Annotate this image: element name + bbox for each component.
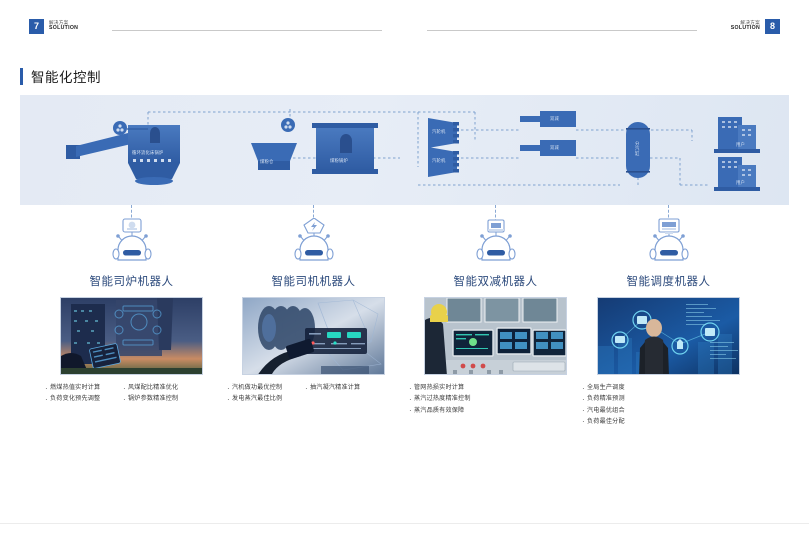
photo-dispatch-dashboard-art [598,298,740,375]
bullet-col-3a: 管网热损实时计算 蒸汽过热度精准控制 蒸汽品质有效保障 [408,384,528,414]
photo-boiler-plant [60,297,203,375]
bullet-list-1: 燃煤热值实时计算 负荷变化预先调整 风煤配比精准优化 锅炉参数精准控制 [44,384,219,403]
header-left-marker: 7 解决方案 SOLUTION [29,19,78,34]
robot-name-4: 智能调度机器人 [581,273,756,289]
equipment-user-building-1 [714,117,760,153]
slide-page: 7 解决方案 SOLUTION 解决方案 SOLUTION 8 智能化控制 [0,0,809,550]
equipment-label-turbine-1: 汽轮机 [432,130,446,134]
equipment-label-pc-boiler: 煤粉锅炉 [330,159,348,163]
title-label: 智能化控制 [31,66,101,86]
equipment-label-user-1: 用户 [736,143,745,147]
header-left-text: 解决方案 SOLUTION [49,21,78,31]
robot-icon-wrap-1 [44,218,219,268]
robot-icon-wrap-3 [408,218,583,268]
list-item: 负荷精准预测 [581,395,701,402]
robot-reducer-icon [472,218,520,264]
bullet-col-2a: 汽机做功最优控制 发电蒸汽最佳比例 [226,384,304,403]
photo-turbine [242,297,385,375]
equipment-label-user-2: 用户 [736,181,745,185]
bullet-list-4: 全局生产调度 负荷精准预测 汽电最优组合 负荷最佳分配 [581,384,756,425]
equipment-reducer-1 [520,111,576,127]
bullet-col-1a: 燃煤热值实时计算 负荷变化预先调整 [44,384,122,403]
header-left-en: SOLUTION [49,26,78,31]
photo-turbine-art [243,298,385,375]
robot-dispatch-icon [645,218,693,264]
photo-dispatch-dashboard [597,297,740,375]
photo-boiler-plant-art [61,298,203,375]
equipment-user-building-2 [714,157,760,191]
equipment-coal-bunker [251,118,297,170]
robot-name-1: 智能司炉机器人 [44,273,219,289]
photo-control-room-art [425,298,567,375]
equipment-label-coal-bunker: 煤粉仓 [260,160,274,164]
list-item: 锅炉参数精准控制 [122,395,200,402]
solution-column-turbine-operator: 智能司机机器人 [226,218,401,403]
equipment-label-reducer-1: 双减 [550,117,559,121]
robot-name-3: 智能双减机器人 [408,273,583,289]
equipment-reducer-2 [520,140,576,156]
bullet-col-4a: 全局生产调度 负荷精准预测 汽电最优组合 负荷最佳分配 [581,384,701,425]
header-right-en: SOLUTION [731,26,760,31]
list-item: 蒸汽过热度精准控制 [408,395,528,402]
list-item: 负荷最佳分配 [581,418,701,425]
equipment-label-steam-distributor: 分汽缸 [635,142,641,157]
photo-control-room [424,297,567,375]
list-item: 负荷变化预先调整 [44,395,122,402]
page-title: 智能化控制 [20,66,101,86]
list-item: 蒸汽品质有效保障 [408,407,528,414]
header-right-text: 解决方案 SOLUTION [731,21,760,31]
list-item: 发电蒸汽最佳比例 [226,395,304,402]
section-number-badge-left: 7 [29,19,44,34]
robot-icon-wrap-2 [226,218,401,268]
list-item: 管网热损实时计算 [408,384,528,391]
robot-boiler-operator-icon [108,218,156,264]
robot-icon-wrap-4 [581,218,756,268]
list-item: 抽汽凝汽精准计算 [304,384,382,391]
header-rule-left [112,30,382,31]
title-accent-bar [20,68,23,85]
equipment-label-reducer-2: 双减 [550,146,559,150]
bullet-list-3: 管网热损实时计算 蒸汽过热度精准控制 蒸汽品质有效保障 [408,384,583,414]
equipment-label-turbine-2: 汽轮机 [432,159,446,163]
solution-column-dispatch: 智能调度机器人 [581,218,756,425]
bullet-list-2: 汽机做功最优控制 发电蒸汽最佳比例 抽汽凝汽精准计算 [226,384,401,403]
solution-column-boiler-operator: 智能司炉机器人 [44,218,219,403]
bullet-col-2b: 抽汽凝汽精准计算 [304,384,382,403]
header-right-marker: 解决方案 SOLUTION 8 [731,19,780,34]
list-item: 全局生产调度 [581,384,701,391]
robot-name-2: 智能司机机器人 [226,273,401,289]
list-item: 汽电最优组合 [581,407,701,414]
equipment-pc-boiler [312,123,378,174]
process-flow-diagram: 循环流化床锅炉 煤粉仓 煤粉锅炉 汽轮机 汽轮机 双减 双减 分汽缸 用户 用户 [20,95,789,205]
list-item: 汽机做功最优控制 [226,384,304,391]
list-item: 燃煤热值实时计算 [44,384,122,391]
robot-turbine-operator-icon [290,218,338,264]
bullet-col-1b: 风煤配比精准优化 锅炉参数精准控制 [122,384,200,403]
equipment-label-cfb-boiler: 循环流化床锅炉 [132,151,163,155]
page-header: 7 解决方案 SOLUTION 解决方案 SOLUTION 8 [0,0,809,46]
section-number-badge-right: 8 [765,19,780,34]
footer-divider [0,523,809,524]
header-rule-right [427,30,697,31]
list-item: 风煤配比精准优化 [122,384,200,391]
solution-column-reducer: 智能双减机器人 [408,218,583,414]
